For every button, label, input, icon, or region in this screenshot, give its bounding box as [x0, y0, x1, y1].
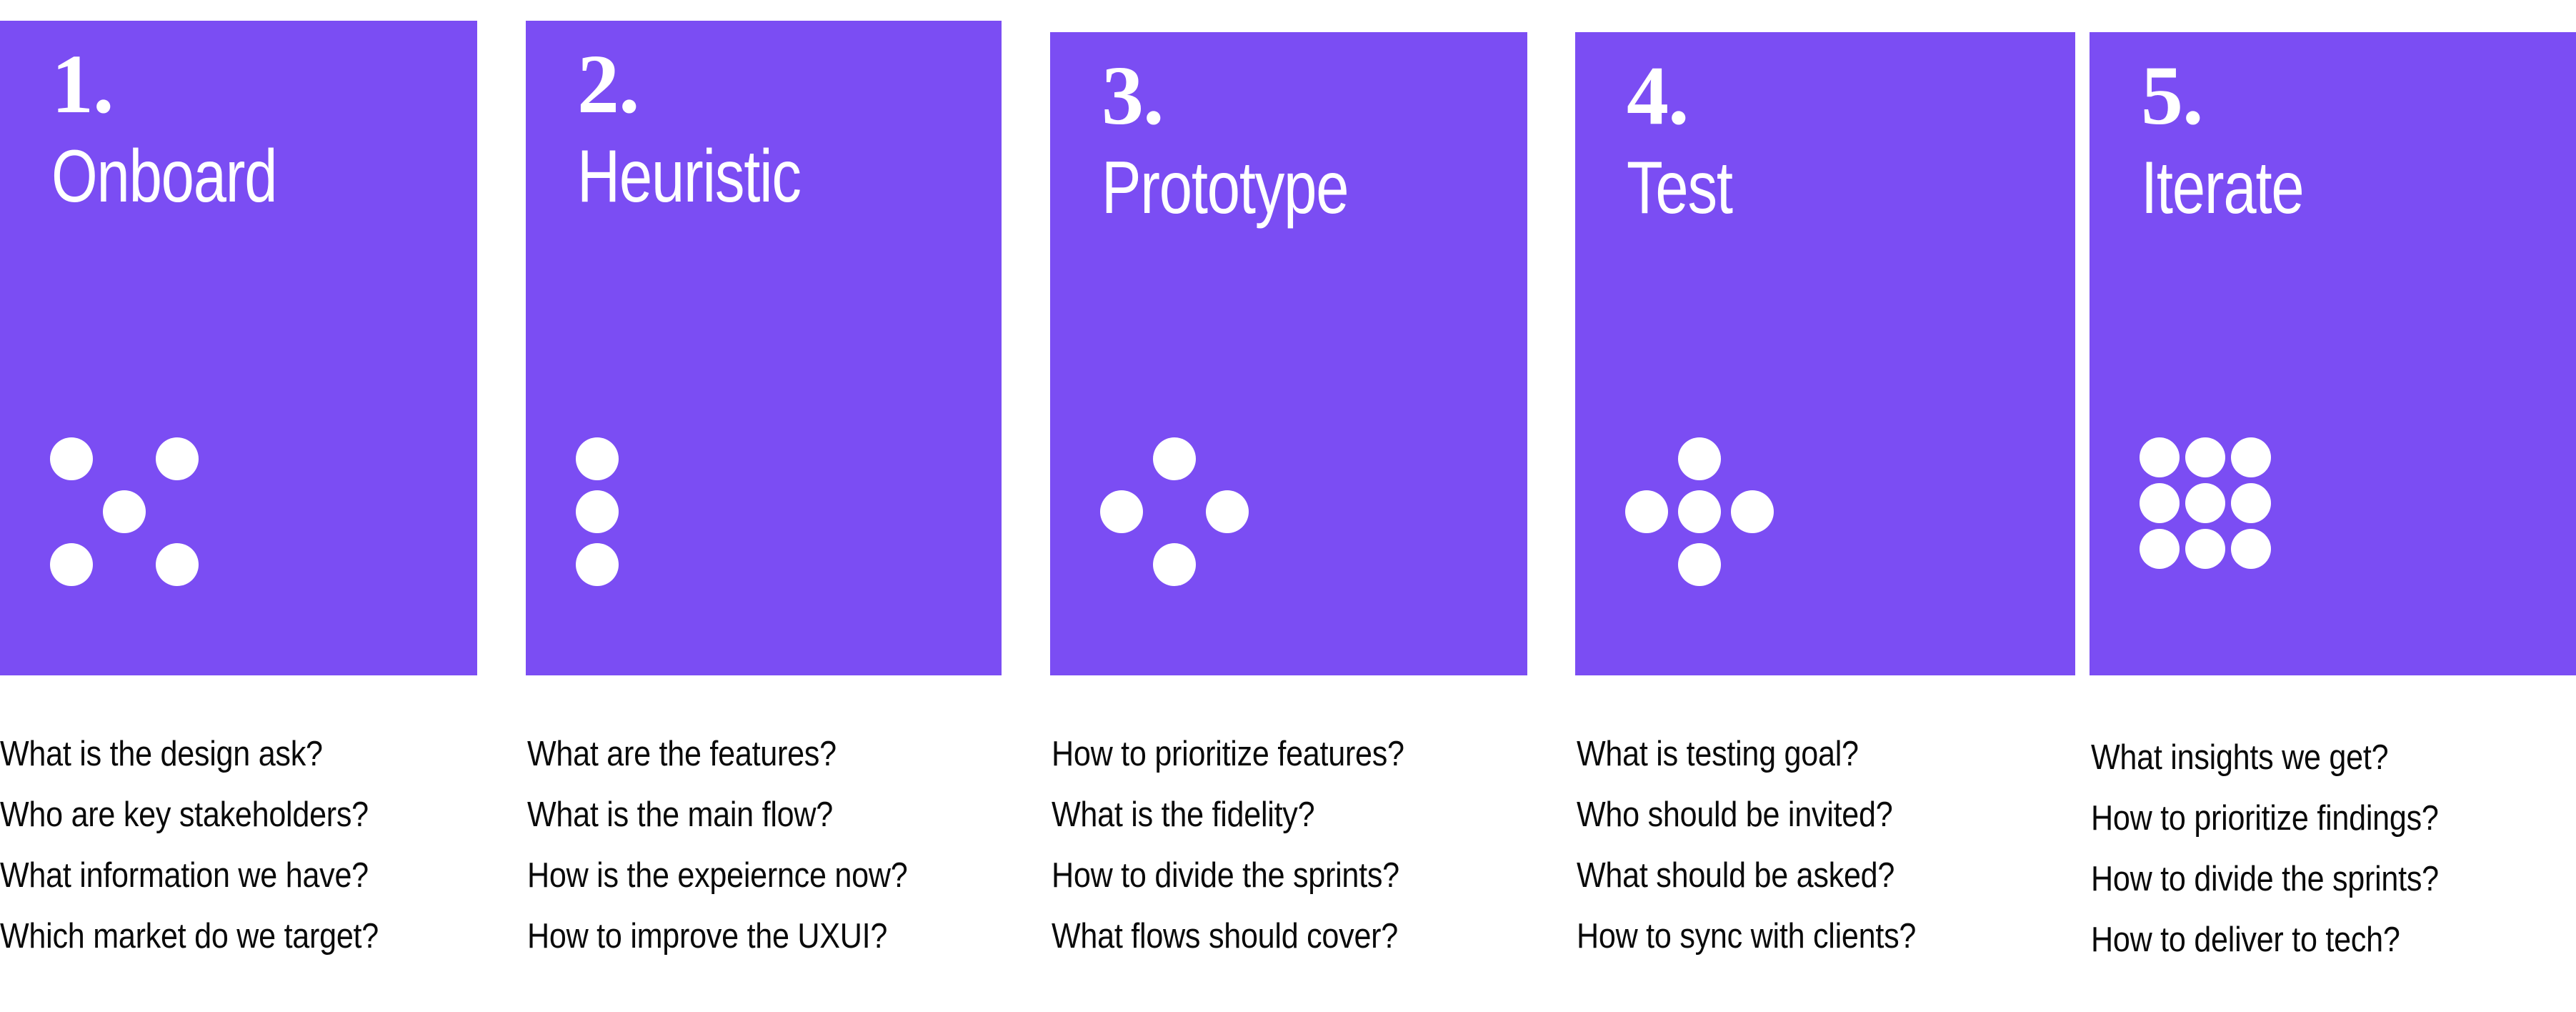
question-item: Who should be invited?: [1577, 785, 1916, 845]
step-card-iterate: 5.Iterate: [2090, 32, 2576, 675]
dot-grid: [2140, 437, 2271, 569]
question-item: How to improve the UXUI?: [527, 906, 907, 967]
step-number: 1.: [51, 42, 114, 126]
dot: [50, 543, 93, 586]
dot: [2231, 437, 2271, 477]
step-number: 3.: [1102, 54, 1164, 138]
dot: [50, 437, 93, 480]
dot-grid: [576, 437, 619, 586]
step-number: 5.: [2141, 54, 2203, 138]
dot: [2185, 437, 2225, 477]
dot-grid: [1100, 437, 1249, 586]
dot: [1100, 490, 1143, 533]
dot: [1206, 490, 1249, 533]
dot: [2185, 483, 2225, 523]
dot: [1678, 437, 1721, 480]
dot-grid: [1625, 437, 1774, 586]
question-item: What flows should cover?: [1052, 906, 1404, 967]
question-item: What are the features?: [527, 724, 907, 785]
quincunx-five-dots-icon: [50, 437, 199, 586]
step-card-inner: 1.Onboard: [0, 21, 477, 675]
question-list-test: What is testing goal?Who should be invit…: [1577, 724, 1962, 967]
dot: [156, 543, 199, 586]
dot: [103, 490, 146, 533]
question-item: What insights we get?: [2091, 728, 2439, 788]
dot: [576, 437, 619, 480]
question-item: What information we have?: [0, 845, 379, 906]
dot: [1153, 437, 1196, 480]
dot: [2140, 437, 2180, 477]
dot: [1678, 543, 1721, 586]
dot-grid: [50, 437, 199, 586]
step-title: Onboard: [51, 139, 276, 214]
question-item: How to sync with clients?: [1577, 906, 1916, 967]
question-item: What is testing goal?: [1577, 724, 1916, 785]
step-number: 4.: [1627, 54, 1689, 138]
dot: [2185, 529, 2225, 569]
dot: [1153, 543, 1196, 586]
dot: [576, 490, 619, 533]
vertical-three-dots-icon: [576, 437, 619, 586]
dot: [1678, 490, 1721, 533]
question-item: How to prioritize findings?: [2091, 788, 2439, 849]
question-item: What should be asked?: [1577, 845, 1916, 906]
question-item: Who are key stakeholders?: [0, 785, 379, 845]
question-item: What is the fidelity?: [1052, 785, 1404, 845]
question-item: How is the expeiernce now?: [527, 845, 907, 906]
step-title: Test: [1627, 151, 1732, 225]
step-card-inner: 2.Heuristic: [526, 21, 1002, 675]
step-card-inner: 3.Prototype: [1050, 32, 1527, 675]
plus-five-dots-icon: [1625, 437, 1774, 586]
step-title: Prototype: [1102, 151, 1348, 225]
question-item: How to deliver to tech?: [2091, 910, 2439, 971]
step-number: 2.: [577, 42, 639, 126]
step-title: Iterate: [2141, 151, 2303, 225]
dot: [2140, 483, 2180, 523]
question-item: Which market do we target?: [0, 906, 379, 967]
dot: [156, 437, 199, 480]
design-process-board: 1.OnboardWhat is the design ask?Who are …: [0, 0, 2576, 1012]
step-card-inner: 4.Test: [1575, 32, 2075, 675]
step-card-inner: 5.Iterate: [2090, 32, 2576, 675]
question-list-iterate: What insights we get?How to prioritize f…: [2091, 728, 2486, 971]
step-card-heuristic: 2.Heuristic: [526, 21, 1002, 675]
dot: [2231, 529, 2271, 569]
question-item: How to divide the sprints?: [1052, 845, 1404, 906]
question-list-onboard: What is the design ask?Who are key stake…: [0, 724, 430, 967]
question-list-heuristic: What are the features?What is the main f…: [527, 724, 959, 967]
step-title: Heuristic: [577, 139, 801, 214]
diamond-four-dots-icon: [1100, 437, 1249, 586]
dot: [2231, 483, 2271, 523]
grid-nine-dots-icon: [2140, 437, 2271, 569]
question-list-prototype: How to prioritize features?What is the f…: [1052, 724, 1452, 967]
step-card-prototype: 3.Prototype: [1050, 32, 1527, 675]
step-card-onboard: 1.Onboard: [0, 21, 477, 675]
question-item: How to divide the sprints?: [2091, 849, 2439, 910]
dot: [576, 543, 619, 586]
dot: [2140, 529, 2180, 569]
dot: [1625, 490, 1668, 533]
dot: [1731, 490, 1774, 533]
question-item: What is the design ask?: [0, 724, 379, 785]
step-card-test: 4.Test: [1575, 32, 2075, 675]
question-item: What is the main flow?: [527, 785, 907, 845]
question-item: How to prioritize features?: [1052, 724, 1404, 785]
